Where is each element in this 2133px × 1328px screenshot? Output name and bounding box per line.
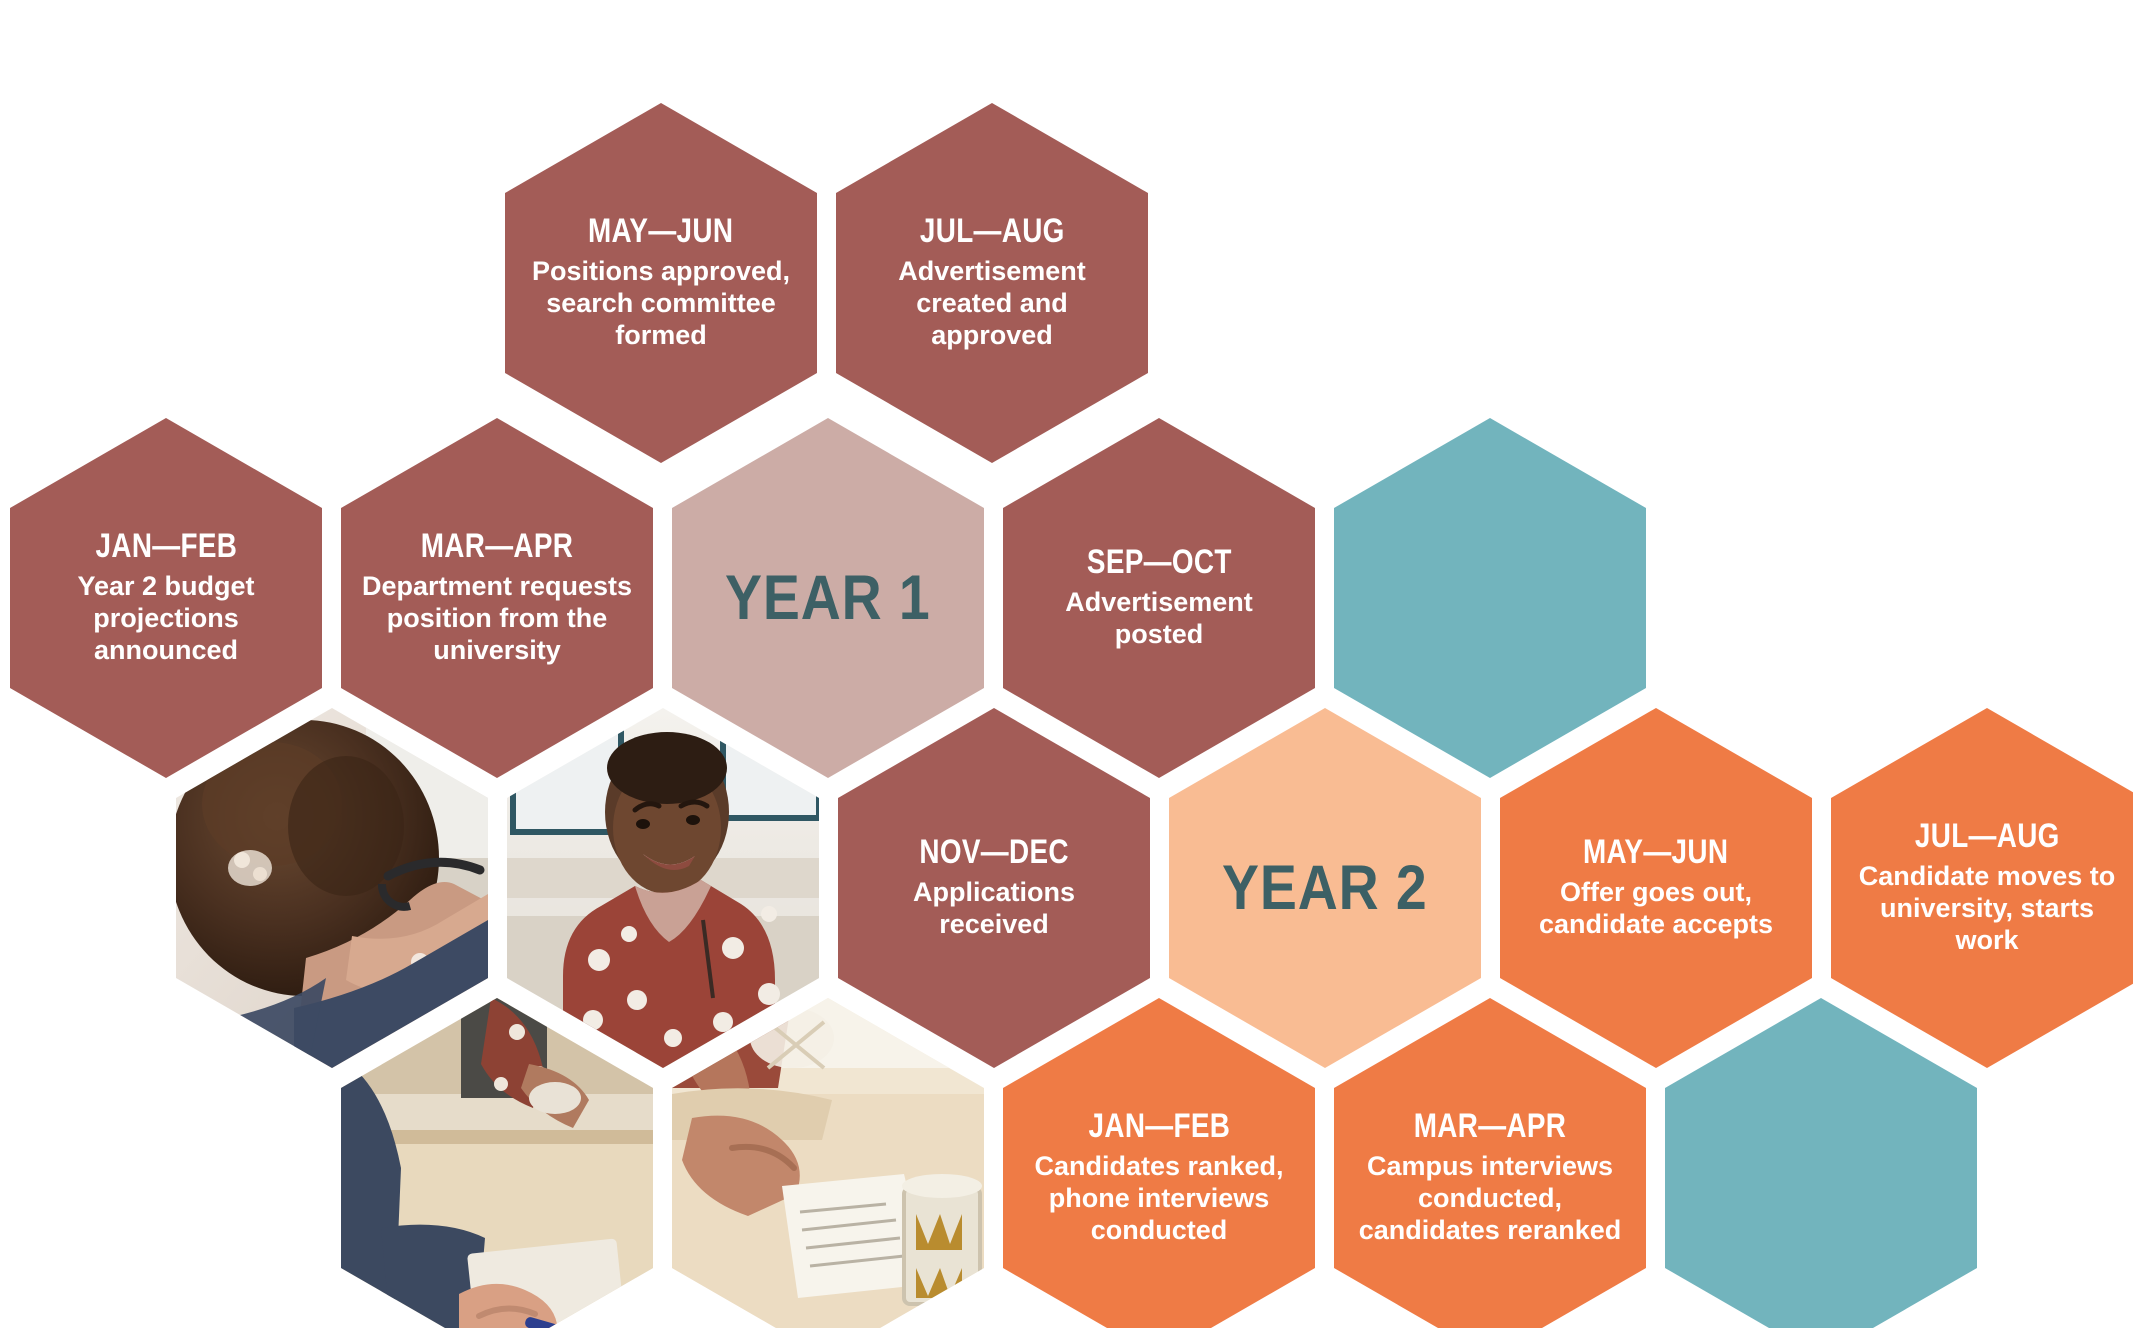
hex-year1-may-jun: MAY—JUN Positions approved, search commi… [505, 103, 817, 463]
photo-artwork [672, 998, 984, 1328]
hex-description: Positions approved, search committee for… [523, 256, 799, 352]
hex-year2-jan-feb: JAN—FEB Candidates ranked, phone intervi… [1003, 998, 1315, 1328]
hex-description: Candidates ranked, phone interviews cond… [1021, 1151, 1297, 1247]
hiring-timeline-infographic: MAY—JUN Positions approved, search commi… [0, 0, 2133, 1328]
teal-accent-hex-upper [1334, 418, 1646, 778]
year-label-text: YEAR 1 [725, 562, 931, 634]
hex-period-label: JAN—FEB [1088, 1109, 1230, 1145]
hex-description: Offer goes out, candidate accepts [1518, 877, 1794, 941]
hex-year2-mar-apr: MAR—APR Campus interviews conducted, can… [1334, 998, 1646, 1328]
hex-period-label: MAY—JUN [1583, 835, 1728, 871]
hex-period-label: NOV—DEC [919, 835, 1068, 871]
photo-artwork [507, 708, 819, 1068]
hex-period-label: JUL—AUG [920, 214, 1065, 250]
hex-year1-jan-feb: JAN—FEB Year 2 budget projections announ… [10, 418, 322, 778]
hex-description: Advertisement created and approved [854, 256, 1130, 352]
photo-artwork [176, 708, 488, 1068]
hex-period-label: JAN—FEB [95, 529, 237, 565]
hex-year1-mar-apr: MAR—APR Department requests position fro… [341, 418, 653, 778]
hex-description: Applications received [856, 877, 1132, 941]
hex-description: Department requests position from the un… [359, 571, 635, 667]
year-label-text: YEAR 2 [1222, 852, 1428, 924]
hex-description: Advertisement posted [1021, 587, 1297, 651]
desk-notes-coffee-photo [672, 998, 984, 1328]
photo-artwork [341, 998, 653, 1328]
smiling-candidate-photo [507, 708, 819, 1068]
hex-description: Year 2 budget projections announced [28, 571, 304, 667]
interviewer-back-of-head-photo [176, 708, 488, 1068]
hex-year-2-label: YEAR 2 [1169, 708, 1481, 1068]
hex-description: Candidate moves to university, starts wo… [1849, 861, 2125, 957]
hex-period-label: MAR—APR [421, 529, 574, 565]
hex-period-label: SEP—OCT [1087, 545, 1232, 581]
interview-table-handshake-photo [341, 998, 653, 1328]
hex-description: Campus interviews conducted, candidates … [1352, 1151, 1628, 1247]
hex-period-label: JUL—AUG [1915, 819, 2060, 855]
hex-period-label: MAR—APR [1414, 1109, 1567, 1145]
hex-year2-jul-aug: JUL—AUG Candidate moves to university, s… [1831, 708, 2133, 1068]
hex-year-1-label: YEAR 1 [672, 418, 984, 778]
hex-year1-jul-aug: JUL—AUG Advertisement created and approv… [836, 103, 1148, 463]
hex-year1-nov-dec: NOV—DEC Applications received [838, 708, 1150, 1068]
hex-period-label: MAY—JUN [588, 214, 733, 250]
hex-year2-may-jun: MAY—JUN Offer goes out, candidate accept… [1500, 708, 1812, 1068]
hex-year1-sep-oct: SEP—OCT Advertisement posted [1003, 418, 1315, 778]
teal-accent-hex-lower [1665, 998, 1977, 1328]
